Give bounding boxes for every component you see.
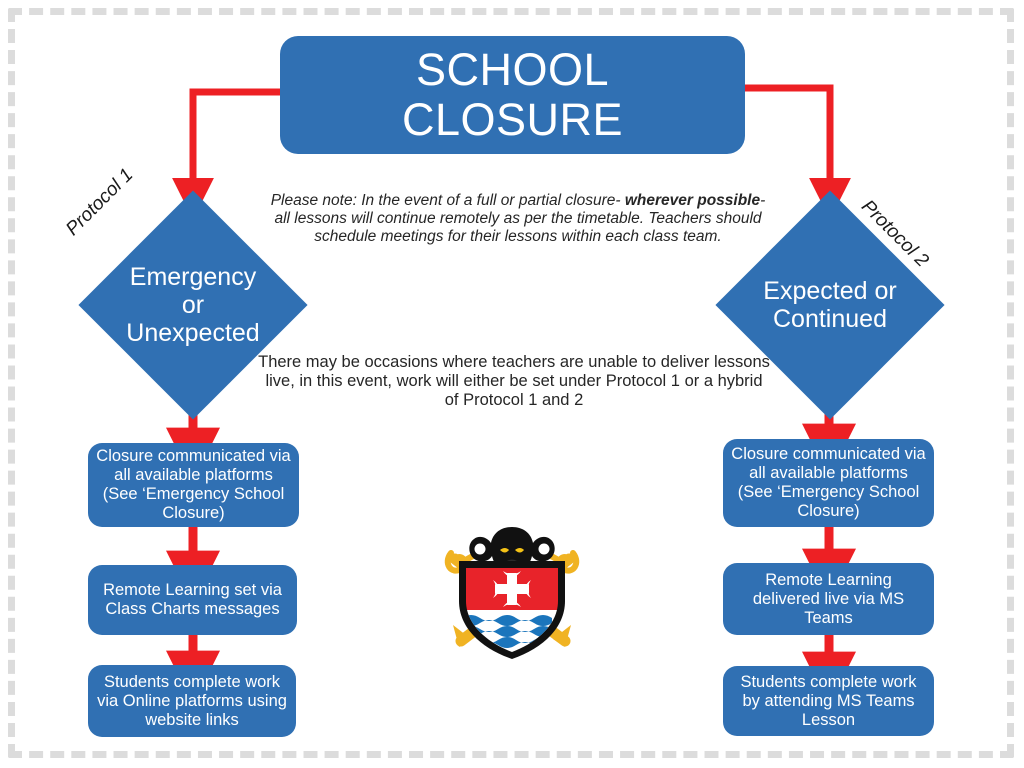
protocol1-step-1[interactable]: Closure communicated via all available p… — [88, 443, 299, 527]
protocol2-step-3[interactable]: Students complete work by attending MS T… — [723, 666, 934, 736]
school-crest-logo — [437, 523, 587, 663]
page-title-line1: SCHOOL — [416, 44, 609, 95]
crest-shield-field — [462, 566, 562, 658]
protocol2-step-1[interactable]: Closure communicated via all available p… — [723, 439, 934, 527]
note-middle: There may be occasions where teachers ar… — [258, 353, 770, 410]
note-top-part1: Please note: In the event of a full or p… — [271, 192, 625, 209]
decision-emergency-or-unexpected[interactable]: Emergency or Unexpected — [78, 190, 308, 420]
page-title-line2: CLOSURE — [402, 94, 623, 145]
flowchart-canvas: SCHOOL CLOSURE Please note: In the event… — [0, 0, 1024, 768]
decision-right-label: Expected or Continued — [715, 190, 945, 420]
decision-left-label: Emergency or Unexpected — [78, 190, 308, 420]
protocol1-step-2[interactable]: Remote Learning set via Class Charts mes… — [88, 565, 297, 635]
note-top: Please note: In the event of a full or p… — [262, 192, 774, 246]
protocol1-step-3[interactable]: Students complete work via Online platfo… — [88, 665, 296, 737]
protocol2-step-2[interactable]: Remote Learning delivered live via MS Te… — [723, 563, 934, 635]
page-title: SCHOOL CLOSURE — [280, 36, 745, 154]
decision-expected-or-continued[interactable]: Expected or Continued — [715, 190, 945, 420]
